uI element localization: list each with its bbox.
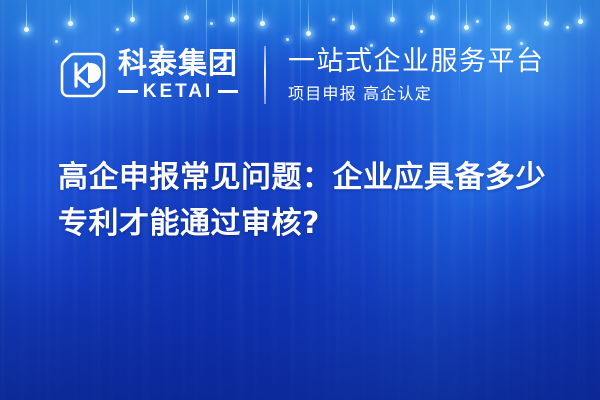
ketai-diamond-monogram-icon bbox=[58, 50, 108, 100]
tagline-secondary: 项目申报 高企认定 bbox=[288, 84, 545, 103]
page-title: 高企申报常见问题：企业应具备多少专利才能通过审核? bbox=[58, 155, 558, 246]
brand-logo[interactable]: 科泰集团 KETAI bbox=[58, 49, 238, 101]
brand-name-en: KETAI bbox=[143, 82, 214, 101]
banner-header: 科泰集团 KETAI 一站式企业服务平台 项目申报 高企认定 bbox=[58, 44, 545, 106]
wordmark-rule-right bbox=[218, 90, 238, 93]
brand-name-en-row: KETAI bbox=[118, 82, 238, 101]
brand-name-cn: 科泰集团 bbox=[118, 49, 238, 78]
header-divider bbox=[264, 46, 266, 104]
brand-wordmark: 科泰集团 KETAI bbox=[118, 49, 238, 101]
promo-banner: 科泰集团 KETAI 一站式企业服务平台 项目申报 高企认定 高企申报常见问题：… bbox=[0, 0, 600, 400]
wordmark-rule-left bbox=[118, 90, 138, 93]
tagline-primary: 一站式企业服务平台 bbox=[288, 47, 545, 77]
tagline-block: 一站式企业服务平台 项目申报 高企认定 bbox=[288, 47, 545, 103]
